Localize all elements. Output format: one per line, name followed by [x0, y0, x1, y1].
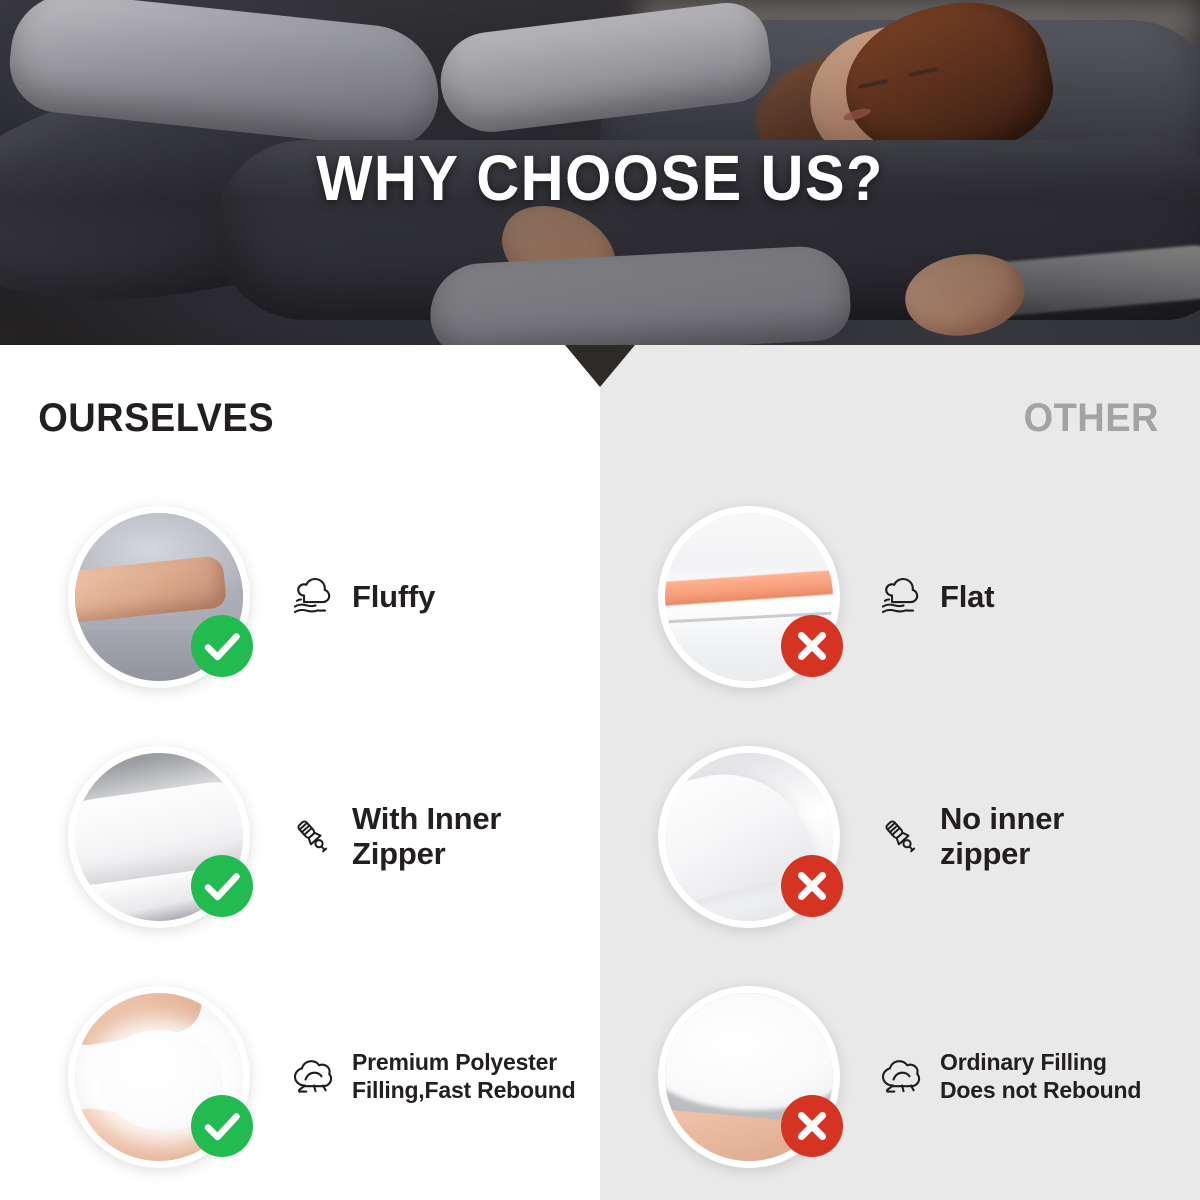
feature-label: No inner zipper	[940, 802, 1064, 871]
photo-no-zipper	[658, 746, 840, 928]
pillow-cloud-icon	[290, 1054, 336, 1100]
page-title: WHY CHOOSE US?	[42, 146, 1158, 210]
ourselves-heading: OURSELVES	[38, 398, 274, 438]
feature-row: Premium Polyester Filling,Fast Rebound	[0, 957, 600, 1197]
zipper-icon	[878, 814, 924, 860]
cross-icon	[781, 1095, 843, 1157]
check-badge	[191, 615, 253, 677]
feature-row: Fluffy	[0, 477, 600, 717]
cross-badge	[781, 855, 843, 917]
check-icon	[191, 615, 253, 677]
feature-text-group: Premium Polyester Filling,Fast Rebound	[290, 1049, 575, 1104]
feature-text-group: No inner zipper	[878, 802, 1064, 871]
feature-text-group: Ordinary Filling Does not Rebound	[878, 1049, 1141, 1104]
cross-icon	[781, 615, 843, 677]
ourselves-feature-list: Fluffy	[0, 477, 600, 1197]
panel-ourselves: OURSELVES	[0, 345, 600, 1200]
photo-ordinary-fill	[658, 986, 840, 1168]
photo-flat-pillow	[658, 506, 840, 688]
zipper-icon	[290, 814, 336, 860]
feature-row: No inner zipper	[600, 717, 1200, 957]
photo-inner-zipper	[68, 746, 250, 928]
feature-row: With Inner Zipper	[0, 717, 600, 957]
feature-label: Flat	[940, 580, 994, 615]
feature-label: With Inner Zipper	[352, 802, 501, 871]
panel-other: OTHER	[600, 345, 1200, 1200]
pillow-cloud-icon	[878, 1054, 924, 1100]
other-heading: OTHER	[1023, 398, 1158, 438]
why-choose-us-infographic: WHY CHOOSE US? OURSELVES	[0, 0, 1200, 1200]
cross-badge	[781, 1095, 843, 1157]
cloud-fluff-icon	[290, 574, 336, 620]
feature-label: Ordinary Filling Does not Rebound	[940, 1049, 1141, 1104]
comparison-section: OURSELVES	[0, 345, 1200, 1200]
hero-banner: WHY CHOOSE US?	[0, 0, 1200, 345]
check-icon	[191, 1095, 253, 1157]
check-badge	[191, 855, 253, 917]
feature-row: Ordinary Filling Does not Rebound	[600, 957, 1200, 1197]
feature-row: Flat	[600, 477, 1200, 717]
cross-badge	[781, 615, 843, 677]
feature-text-group: Flat	[878, 574, 994, 620]
cross-icon	[781, 855, 843, 917]
hero-notch-triangle	[565, 345, 635, 387]
check-badge	[191, 1095, 253, 1157]
photo-polyester-fill	[68, 986, 250, 1168]
feature-text-group: With Inner Zipper	[290, 802, 501, 871]
cloud-fluff-icon	[878, 574, 924, 620]
feature-label: Fluffy	[352, 580, 435, 615]
feature-label: Premium Polyester Filling,Fast Rebound	[352, 1049, 575, 1104]
feature-text-group: Fluffy	[290, 574, 435, 620]
check-icon	[191, 855, 253, 917]
other-feature-list: Flat	[600, 477, 1200, 1197]
photo-fluffy-pillow	[68, 506, 250, 688]
